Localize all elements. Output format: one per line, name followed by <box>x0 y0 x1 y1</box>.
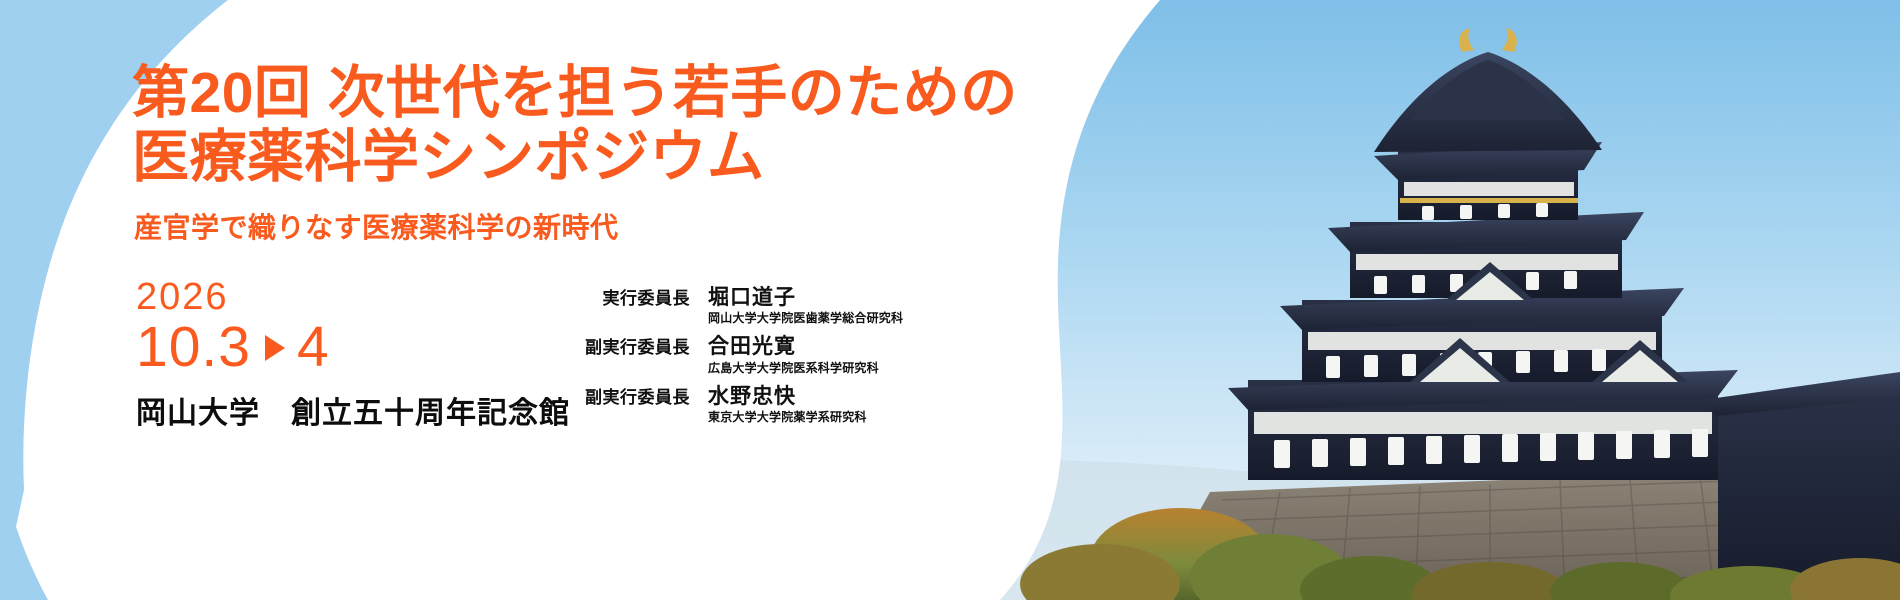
event-day-range: 10.3 4 <box>136 318 330 378</box>
committee-affiliation: 岡山大学大学院医歯薬学総合研究科 <box>708 311 903 325</box>
event-venue: 岡山大学 創立五十周年記念館 <box>136 388 570 432</box>
committee-row: 実行委員長 堀口道子 岡山大学大学院医歯薬学総合研究科 <box>572 286 992 325</box>
committee-row: 副実行委員長 水野忠快 東京大学大学院薬学系研究科 <box>572 385 992 424</box>
event-end-date: 4 <box>297 318 330 378</box>
page-title: 第20回 次世代を担う若手のための 医療薬科学シンポジウム <box>132 62 1018 190</box>
date-range-arrow-icon <box>265 335 285 361</box>
committee-info: 合田光寛 広島大学大学院医系科学研究科 <box>708 335 879 374</box>
event-date: 2026 10.3 4 <box>136 278 330 378</box>
committee-role: 実行委員長 <box>572 286 690 309</box>
subtitle: 産官学で織りなす医療薬科学の新時代 <box>134 206 619 246</box>
headline-line-1: 第20回 次世代を担う若手のための <box>132 61 1018 125</box>
committee-info: 堀口道子 岡山大学大学院医歯薬学総合研究科 <box>708 286 903 325</box>
event-year: 2026 <box>136 278 330 316</box>
banner-content: 第20回 次世代を担う若手のための 医療薬科学シンポジウム 産官学で織りなす医療… <box>0 0 1060 600</box>
event-start-date: 10.3 <box>136 318 251 378</box>
symposium-banner: 第20回 次世代を担う若手のための 医療薬科学シンポジウム 産官学で織りなす医療… <box>0 0 1900 600</box>
committee-info: 水野忠快 東京大学大学院薬学系研究科 <box>708 385 867 424</box>
committee-list: 実行委員長 堀口道子 岡山大学大学院医歯薬学総合研究科 副実行委員長 合田光寛 … <box>572 286 992 434</box>
committee-name: 水野忠快 <box>708 385 867 408</box>
committee-affiliation: 東京大学大学院薬学系研究科 <box>708 410 867 424</box>
committee-role: 副実行委員長 <box>572 335 690 358</box>
committee-name: 堀口道子 <box>708 286 903 309</box>
headline-line-2: 医療薬科学シンポジウム <box>132 125 765 189</box>
committee-row: 副実行委員長 合田光寛 広島大学大学院医系科学研究科 <box>572 335 992 374</box>
committee-role: 副実行委員長 <box>572 385 690 408</box>
committee-name: 合田光寛 <box>708 335 879 358</box>
committee-affiliation: 広島大学大学院医系科学研究科 <box>708 361 879 375</box>
